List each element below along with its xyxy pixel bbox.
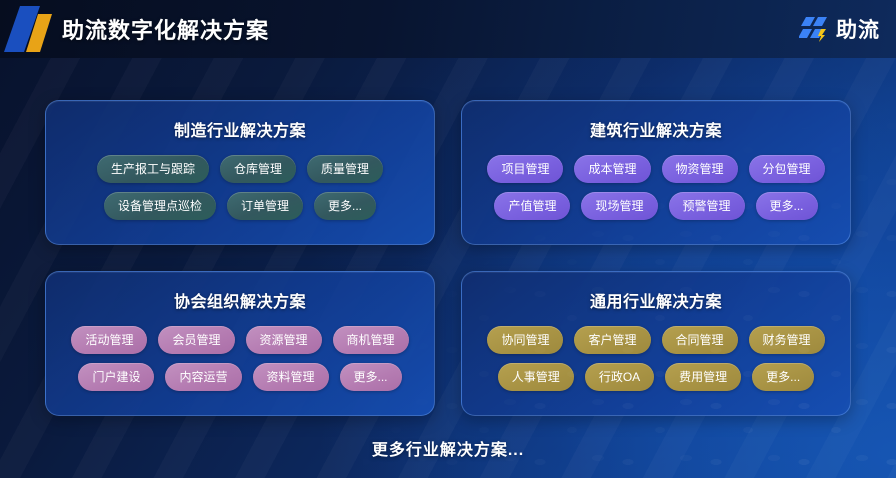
solution-card-grid: 制造行业解决方案生产报工与跟踪仓库管理质量管理设备管理点巡检订单管理更多...建… [45, 100, 851, 416]
footer-more-text: 更多行业解决方案... [0, 436, 896, 460]
pill-row: 设备管理点巡检订单管理更多... [62, 192, 418, 220]
pill-tag[interactable]: 活动管理 [71, 326, 147, 354]
pill-tag[interactable]: 会员管理 [158, 326, 234, 354]
pill-tag[interactable]: 财务管理 [749, 326, 825, 354]
pill-tag[interactable]: 成本管理 [574, 155, 650, 183]
pill-row: 活动管理会员管理资源管理商机管理 [62, 326, 418, 354]
card-title: 建筑行业解决方案 [478, 117, 834, 141]
slide-canvas: 助流数字化解决方案 助流 制造行业解决方案生产报工与跟踪仓库管理质量管理设备管理… [0, 0, 896, 478]
pill-more[interactable]: 更多... [340, 363, 402, 391]
pill-tag[interactable]: 商机管理 [333, 326, 409, 354]
brand-name: 助流 [836, 14, 880, 44]
pill-tag[interactable]: 预警管理 [669, 192, 745, 220]
solution-card: 协会组织解决方案活动管理会员管理资源管理商机管理门户建设内容运营资料管理更多..… [45, 271, 435, 416]
solution-card: 制造行业解决方案生产报工与跟踪仓库管理质量管理设备管理点巡检订单管理更多... [45, 100, 435, 245]
pill-row: 生产报工与跟踪仓库管理质量管理 [62, 155, 418, 183]
card-title: 通用行业解决方案 [478, 288, 834, 312]
pill-tag[interactable]: 资源管理 [246, 326, 322, 354]
pill-row: 门户建设内容运营资料管理更多... [62, 363, 418, 391]
app-logo-icon [0, 0, 58, 58]
pill-tag[interactable]: 行政OA [585, 363, 654, 391]
pill-more[interactable]: 更多... [752, 363, 814, 391]
pill-tag[interactable]: 项目管理 [487, 155, 563, 183]
header-bar: 助流数字化解决方案 助流 [0, 0, 896, 58]
pill-tag[interactable]: 门户建设 [78, 363, 154, 391]
pill-tag[interactable]: 现场管理 [581, 192, 657, 220]
pill-tag[interactable]: 质量管理 [307, 155, 383, 183]
pill-tag[interactable]: 客户管理 [574, 326, 650, 354]
pill-row: 人事管理行政OA费用管理更多... [478, 363, 834, 391]
lightning-bolt-blocks-icon [799, 15, 829, 43]
brand-lockup: 助流 [799, 14, 880, 44]
pill-tag[interactable]: 费用管理 [665, 363, 741, 391]
pill-tag[interactable]: 物资管理 [662, 155, 738, 183]
pill-tag[interactable]: 分包管理 [749, 155, 825, 183]
solution-card: 通用行业解决方案协同管理客户管理合同管理财务管理人事管理行政OA费用管理更多..… [461, 271, 851, 416]
solution-card: 建筑行业解决方案项目管理成本管理物资管理分包管理产值管理现场管理预警管理更多..… [461, 100, 851, 245]
pill-tag[interactable]: 订单管理 [227, 192, 303, 220]
pill-tag[interactable]: 设备管理点巡检 [104, 192, 216, 220]
card-title: 制造行业解决方案 [62, 117, 418, 141]
pill-tag[interactable]: 人事管理 [498, 363, 574, 391]
pill-tag[interactable]: 合同管理 [662, 326, 738, 354]
pill-tag[interactable]: 资料管理 [253, 363, 329, 391]
pill-row: 协同管理客户管理合同管理财务管理 [478, 326, 834, 354]
card-title: 协会组织解决方案 [62, 288, 418, 312]
pill-tag[interactable]: 仓库管理 [220, 155, 296, 183]
pill-row: 项目管理成本管理物资管理分包管理 [478, 155, 834, 183]
page-title: 助流数字化解决方案 [62, 13, 269, 45]
pill-more[interactable]: 更多... [756, 192, 818, 220]
pill-tag[interactable]: 内容运营 [165, 363, 241, 391]
pill-tag[interactable]: 生产报工与跟踪 [97, 155, 209, 183]
pill-tag[interactable]: 产值管理 [494, 192, 570, 220]
pill-tag[interactable]: 协同管理 [487, 326, 563, 354]
pill-more[interactable]: 更多... [314, 192, 376, 220]
pill-row: 产值管理现场管理预警管理更多... [478, 192, 834, 220]
